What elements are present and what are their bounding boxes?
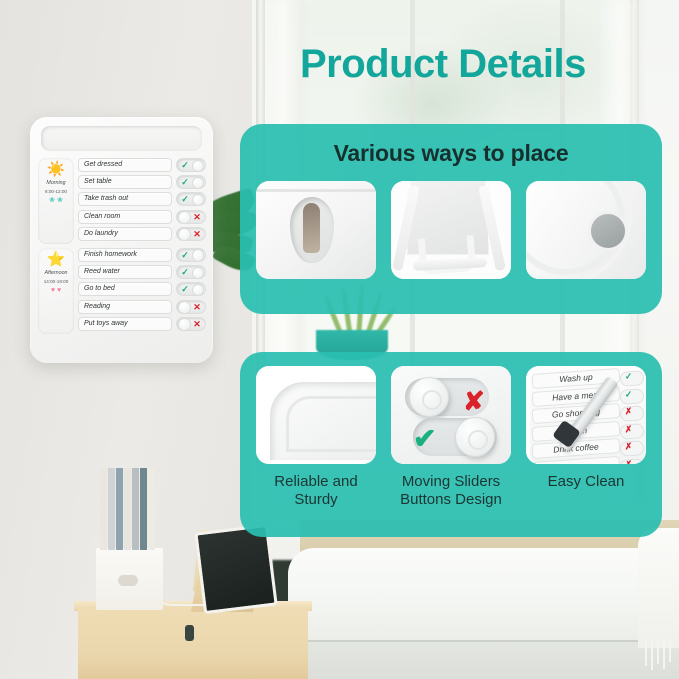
task-slider-toggle[interactable]: ✓: [176, 282, 206, 296]
magazine: [132, 468, 139, 550]
star-icon: ⭐: [38, 252, 74, 268]
task-label[interactable]: Put toys away: [78, 317, 172, 331]
task-label[interactable]: Set table: [78, 175, 172, 189]
bed-skirt: [288, 642, 679, 679]
cross-icon: ✕: [190, 210, 204, 225]
task-row: Put toys away✕: [78, 317, 206, 331]
task-label[interactable]: Reed water: [78, 265, 172, 279]
tablet-device: [194, 524, 277, 614]
task-row: Reed water✓: [78, 265, 206, 279]
feature-image-slider-buttons: ✘ ✔: [391, 366, 511, 464]
corner-inner-contour: [286, 396, 376, 452]
cross-icon: ✕: [190, 227, 204, 242]
fringe-strand: [669, 640, 671, 662]
magazine: [124, 468, 131, 550]
check-icon: ✓: [178, 282, 192, 297]
task-row: Take trash out✓: [78, 192, 206, 206]
check-icon: ✓: [624, 371, 632, 382]
task-label[interactable]: Go to bed: [78, 282, 172, 296]
task-row: Set table✓: [78, 175, 206, 189]
task-slider-toggle[interactable]: ✓: [176, 248, 206, 262]
task-slider-toggle[interactable]: ✓: [176, 192, 206, 206]
feature-easy-clean[interactable]: Wash upHave a mealGo shoppingCleanDrink …: [526, 366, 646, 508]
section-name: Afternoon: [38, 270, 74, 276]
mini-board-slider: ✗: [620, 458, 645, 464]
heart-decor-icon: ♥ ♥: [38, 286, 74, 297]
check-icon: ✓: [624, 388, 632, 399]
feature-image-easy-clean: Wash upHave a mealGo shoppingCleanDrink …: [526, 366, 646, 464]
slider-knob[interactable]: [192, 177, 205, 190]
fringe-strand: [657, 640, 659, 664]
section-side-morning: ☀️Morning8:00-12:00❀ ❀: [38, 158, 74, 244]
task-slider-toggle[interactable]: ✓: [176, 265, 206, 279]
section-name: Morning: [38, 180, 74, 186]
cross-icon: ✗: [624, 458, 632, 464]
task-row: Get dressed✓: [78, 158, 206, 172]
fringe-strand: [645, 640, 647, 666]
mini-board-buttons: ✓✓✗✗✗✗✓: [620, 371, 644, 464]
chart-section-morning: ☀️Morning8:00-12:00❀ ❀Get dressed✓Set ta…: [38, 158, 206, 244]
task-slider-toggle[interactable]: ✕: [176, 227, 206, 241]
sun-icon: ☀️: [38, 162, 74, 178]
slider-knob-top: [409, 377, 449, 417]
task-label[interactable]: Reading: [78, 300, 172, 314]
slider-knob[interactable]: [192, 267, 205, 280]
check-icon: ✓: [178, 158, 192, 173]
check-icon: ✔: [413, 422, 436, 455]
task-row: Finish homework✓: [78, 248, 206, 262]
feature-reliable-and-sturdy[interactable]: Reliable and Sturdy: [256, 366, 376, 508]
slider-knob[interactable]: [178, 318, 191, 331]
task-slider-toggle[interactable]: ✓: [176, 175, 206, 189]
magazine: [116, 468, 123, 550]
check-icon: ✓: [178, 175, 192, 190]
task-row: Clean room✕: [78, 210, 206, 224]
task-rows: Get dressed✓Set table✓Take trash out✓Cle…: [78, 158, 206, 244]
magnet-disc-icon: [588, 211, 628, 251]
feature-label-easy-clean: Easy Clean: [526, 473, 646, 491]
task-rows: Finish homework✓Reed water✓Go to bed✓Rea…: [78, 248, 206, 334]
cross-icon: ✕: [190, 300, 204, 315]
features-panel: Reliable and Sturdy ✘ ✔ Moving Sliders B…: [240, 352, 662, 537]
section-side-afternoon: ⭐Afternoon14:00-19:00♥ ♥: [38, 248, 74, 334]
mini-board-slider: ✓: [620, 388, 645, 405]
section-time-range: 14:00-19:00: [38, 279, 74, 284]
chore-chart-product[interactable]: ☀️Morning8:00-12:00❀ ❀Get dressed✓Set ta…: [30, 117, 213, 363]
chart-header-write-field[interactable]: [41, 126, 202, 151]
magazine: [100, 468, 107, 550]
mini-board-slider: ✗: [620, 423, 645, 440]
keyhole-slot-icon: [303, 203, 320, 253]
slider-knob[interactable]: [178, 211, 191, 224]
fringe-strand: [651, 640, 653, 670]
magazine: [108, 468, 115, 550]
chart-section-afternoon: ⭐Afternoon14:00-19:00♥ ♥Finish homework✓…: [38, 248, 206, 334]
check-icon: ✓: [178, 265, 192, 280]
cross-icon: ✕: [190, 317, 204, 332]
task-label[interactable]: Do laundry: [78, 227, 172, 241]
slider-knob[interactable]: [178, 301, 191, 314]
thumb-magnet-back[interactable]: [526, 181, 646, 279]
features-row: Reliable and Sturdy ✘ ✔ Moving Sliders B…: [240, 352, 662, 508]
slider-knob-bottom: [455, 417, 495, 457]
magazine-holder-handle: [118, 575, 138, 586]
task-row: Reading✕: [78, 300, 206, 314]
dresser-knob: [185, 625, 194, 641]
slider-knob[interactable]: [192, 284, 205, 297]
task-slider-toggle[interactable]: ✕: [176, 317, 206, 331]
feature-label-sturdy: Reliable and Sturdy: [256, 473, 376, 508]
thumb-keyhole-wall-mount[interactable]: [256, 181, 376, 279]
check-icon: ✓: [178, 248, 192, 263]
throw-blanket: [638, 528, 679, 648]
slider-knob[interactable]: [192, 194, 205, 207]
cross-icon: ✗: [624, 423, 632, 434]
flower-decor-icon: ❀ ❀: [38, 196, 74, 207]
page-title: Product Details: [300, 44, 630, 84]
task-row: Go to bed✓: [78, 282, 206, 296]
task-label[interactable]: Clean room: [78, 210, 172, 224]
placement-heading: Various ways to place: [240, 124, 662, 167]
cross-icon: ✘: [463, 386, 485, 417]
placement-thumb-row: [240, 181, 662, 279]
slider-knob[interactable]: [178, 228, 191, 241]
mini-board-slider: ✗: [620, 440, 645, 457]
mini-board-slider: ✗: [620, 405, 645, 422]
task-label[interactable]: Get dressed: [78, 158, 172, 172]
chart-sections: ☀️Morning8:00-12:00❀ ❀Get dressed✓Set ta…: [38, 158, 206, 338]
cross-icon: ✗: [624, 406, 632, 417]
check-icon: ✓: [178, 192, 192, 207]
shell-edge-line: [256, 189, 376, 192]
placement-panel: Various ways to place: [240, 124, 662, 314]
fringe-strand: [663, 640, 665, 669]
slider-knob[interactable]: [192, 249, 205, 262]
magazine: [148, 468, 155, 550]
task-slider-toggle[interactable]: ✕: [176, 210, 206, 224]
magazine: [140, 468, 147, 550]
wooden-dresser: [78, 608, 308, 679]
feature-label-sliders: Moving Sliders Buttons Design: [391, 473, 511, 508]
slider-knob[interactable]: [192, 160, 205, 173]
task-row: Do laundry✕: [78, 227, 206, 241]
thumb-folding-desk-stand[interactable]: [391, 181, 511, 279]
task-slider-toggle[interactable]: ✓: [176, 158, 206, 172]
task-label[interactable]: Take trash out: [78, 192, 172, 206]
section-time-range: 8:00-12:00: [38, 189, 74, 194]
feature-moving-sliders[interactable]: ✘ ✔ Moving Sliders Buttons Design: [391, 366, 511, 508]
task-slider-toggle[interactable]: ✕: [176, 300, 206, 314]
mini-board-slider: ✓: [620, 370, 645, 387]
cross-icon: ✗: [624, 441, 632, 452]
task-label[interactable]: Finish homework: [78, 248, 172, 262]
feature-image-sturdy-corner: [256, 366, 376, 464]
